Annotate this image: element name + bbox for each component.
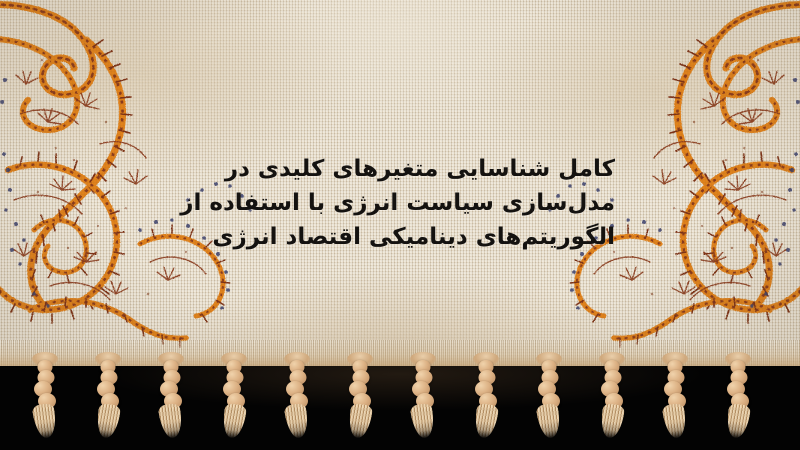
title-line-2: مدل‌سازی سیاست انرژی با استفاده از (165, 186, 615, 220)
title-line-1: کامل شناسایی متغیرهای کلیدی در (165, 152, 615, 186)
page-title: کامل شناسایی متغیرهای کلیدی در مدل‌سازی … (165, 152, 615, 254)
fringe-black-background (0, 366, 800, 450)
title-line-3: الگوریتم‌های دینامیکی اقتصاد انرژی (165, 220, 615, 254)
title-card-canvas: کامل شناسایی متغیرهای کلیدی در مدل‌سازی … (0, 0, 800, 450)
